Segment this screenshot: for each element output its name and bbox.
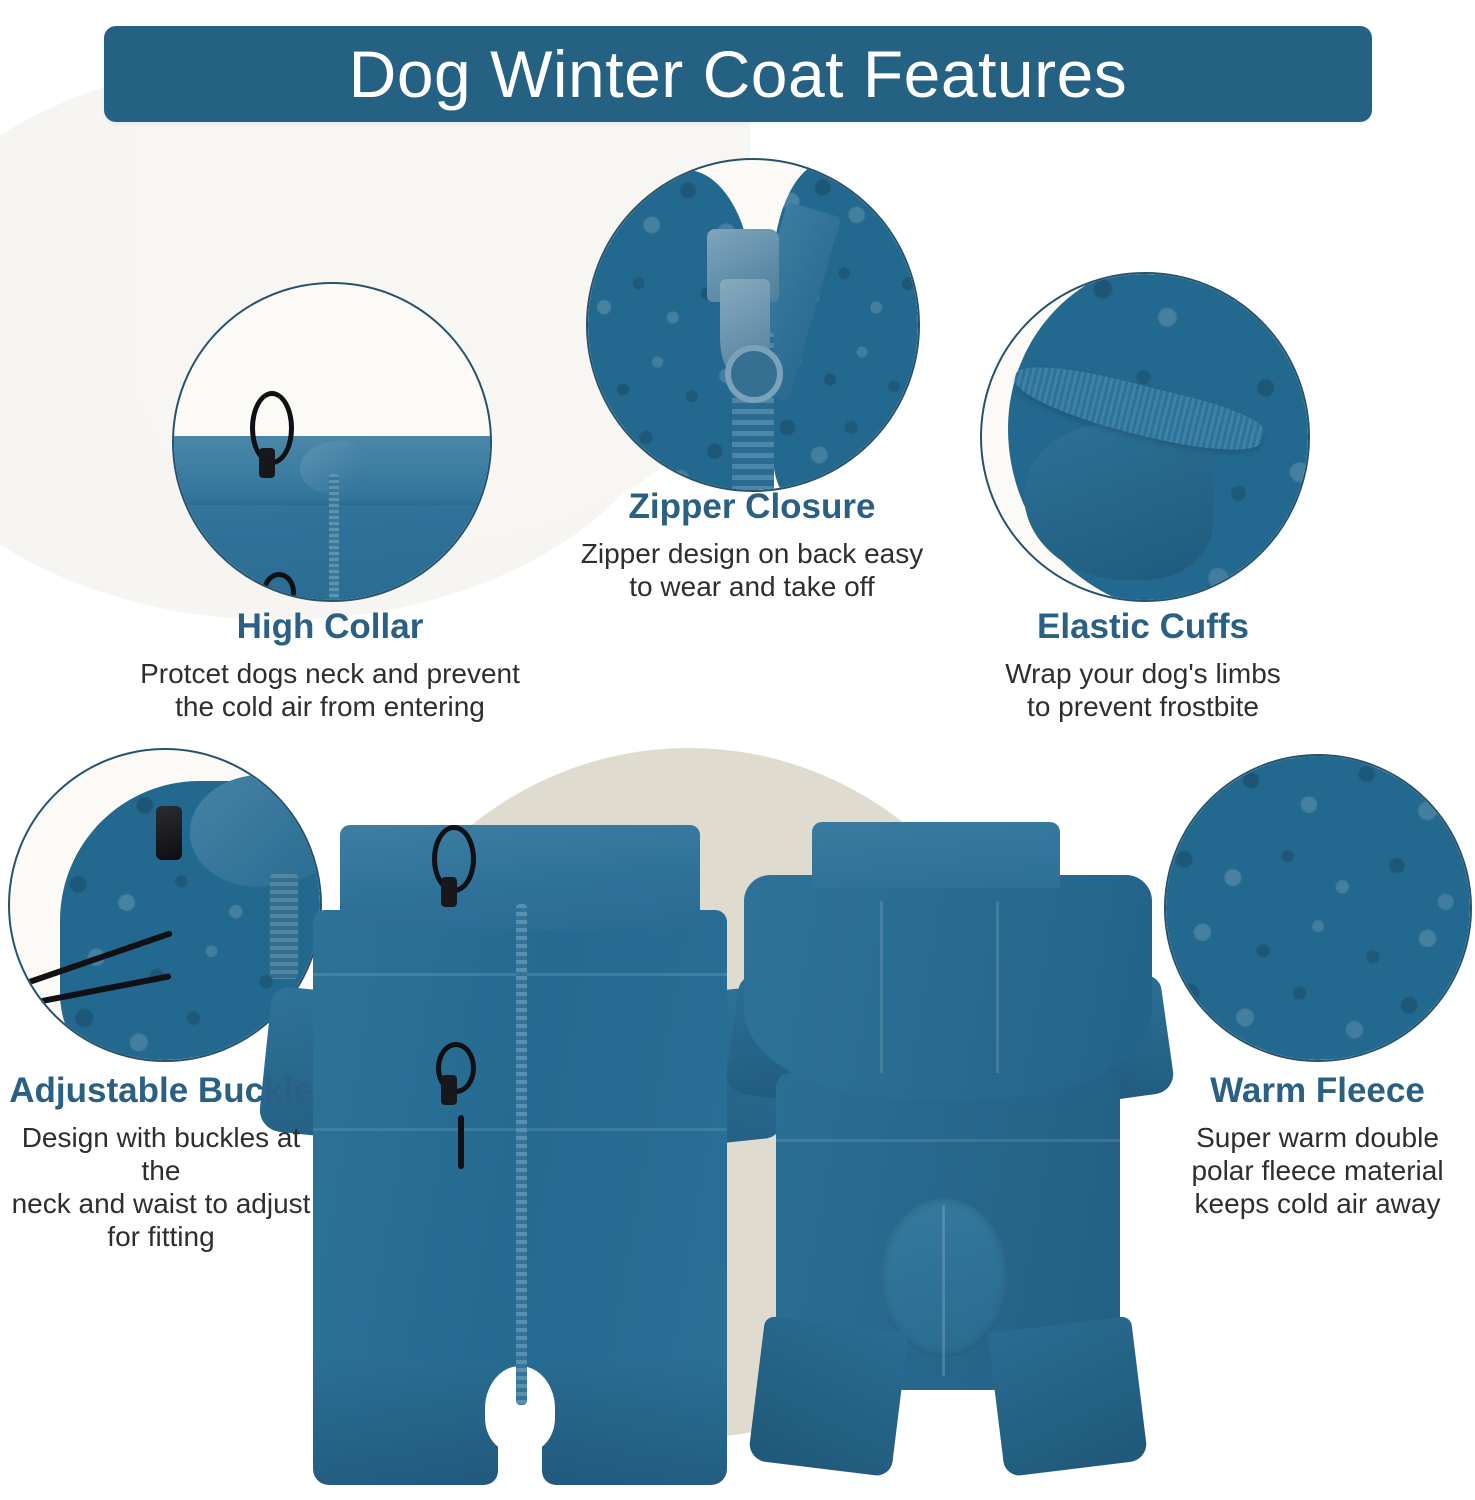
feature-title-adjustable-buckle: Adjustable Buckle [0,1072,322,1111]
buckle-zipper [270,874,298,979]
back-shoulder-panel [744,875,1152,1099]
front-left-leg [313,1359,498,1484]
zipper-closure-photo [588,160,918,490]
front-center-zipper [516,904,527,1406]
collar-zipper [329,474,339,600]
page-title: Dog Winter Coat Features [349,41,1128,107]
high-collar-photo [174,284,490,600]
dog-coat-front-view [300,818,740,1478]
back-belt-seam [776,1139,1120,1142]
feature-warm-fleece-text: Warm Fleece Super warm double polar flee… [1160,1072,1475,1220]
feature-high-collar-text: High Collar Protcet dogs neck and preven… [140,608,520,723]
header-banner: Dog Winter Coat Features [104,26,1372,122]
front-waist-cord-tail-icon [458,1115,464,1169]
elastic-cuffs-photo [982,274,1308,600]
feature-elastic-cuffs-text: Elastic Cuffs Wrap your dog's limbs to p… [958,608,1328,723]
dog-coat-back-view [748,822,1148,1482]
front-neck-toggle-icon [441,877,457,907]
elastic-cuffs-photo-bubble [980,272,1310,602]
feature-title-high-collar: High Collar [140,608,520,647]
feature-adjustable-buckle-text: Adjustable Buckle Design with buckles at… [0,1072,322,1253]
feature-title-zipper-closure: Zipper Closure [562,488,942,527]
zipper-closure-photo-bubble [586,158,920,492]
feature-title-warm-fleece: Warm Fleece [1160,1072,1475,1111]
back-right-leg [988,1315,1149,1477]
back-rear-center-seam [942,1205,945,1377]
front-right-leg [542,1359,727,1484]
cord-lock-toggle-icon [156,806,182,860]
back-right-seam [996,901,999,1073]
feature-title-elastic-cuffs: Elastic Cuffs [958,608,1328,647]
feature-desc-high-collar: Protcet dogs neck and prevent the cold a… [140,657,520,723]
cuff-opening [1024,424,1213,580]
feature-desc-zipper-closure: Zipper design on back easy to wear and t… [562,537,942,603]
feature-desc-elastic-cuffs: Wrap your dog's limbs to prevent frostbi… [958,657,1328,723]
back-left-leg [748,1315,909,1477]
front-waist-toggle-icon [441,1075,457,1105]
high-collar-photo-bubble [172,282,492,602]
back-neck-band [812,822,1060,888]
feature-zipper-closure-text: Zipper Closure Zipper design on back eas… [562,488,942,603]
warm-fleece-photo-bubble [1164,754,1472,1062]
warm-fleece-texture-photo [1166,756,1470,1060]
feature-desc-warm-fleece: Super warm double polar fleece material … [1160,1121,1475,1220]
infographic-page: Dog Winter Coat Features [0,0,1475,1500]
cord-toggle-icon [259,448,275,478]
feature-desc-adjustable-buckle: Design with buckles at the neck and wais… [0,1121,322,1253]
zipper-pull-hole-icon [725,345,783,403]
back-left-seam [880,901,883,1073]
